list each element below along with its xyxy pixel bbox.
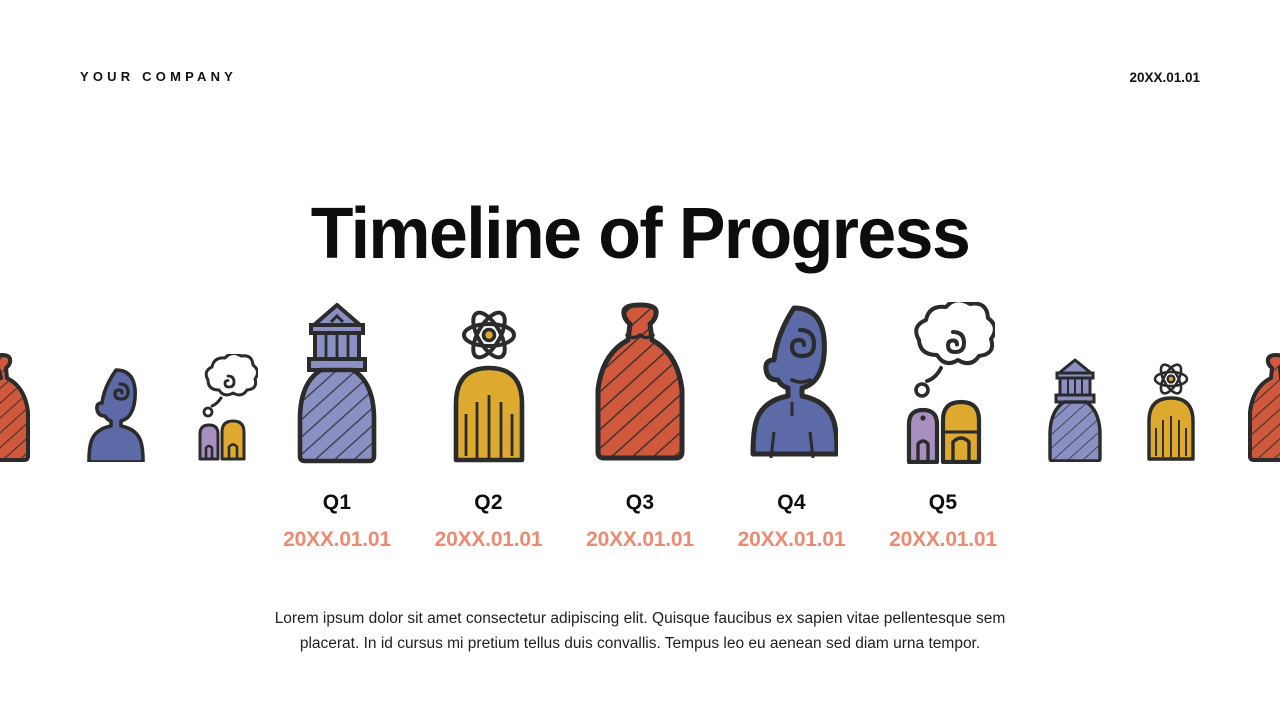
timeline-step-q2-date: 20XX.01.01 — [435, 528, 543, 552]
timeline-step-q4-label: Q4 — [777, 491, 805, 515]
ghost-item-head-left — [86, 366, 146, 462]
timeline-step-q2-label: Q2 — [474, 491, 502, 515]
timeline-step-q4-date: 20XX.01.01 — [738, 528, 846, 552]
brand-label: YOUR COMPANY — [80, 69, 237, 84]
atom-dome-icon — [444, 302, 534, 464]
timeline-step-q3[interactable]: Q3 20XX.01.01 — [565, 286, 715, 552]
ghost-item-atom-right — [1140, 358, 1202, 462]
timeline-step-q2[interactable]: Q2 20XX.01.01 — [414, 286, 564, 552]
timeline-step-q1-label: Q1 — [323, 491, 351, 515]
timeline-step-q5[interactable]: Q5 20XX.01.01 — [868, 286, 1018, 552]
ghost-item-temple-right — [1046, 358, 1104, 462]
spiral-head-icon — [746, 302, 838, 464]
timeline-step-q5-label: Q5 — [929, 491, 957, 515]
atom-dome-icon — [1140, 358, 1202, 462]
header-date: 20XX.01.01 — [1129, 70, 1200, 85]
timeline-step-q5-date: 20XX.01.01 — [889, 528, 997, 552]
body-paragraph: Lorem ipsum dolor sit amet consectetur a… — [260, 606, 1020, 657]
timeline-step-q3-art — [594, 286, 686, 464]
temple-bell-icon — [1046, 358, 1104, 462]
timeline-step-q3-date: 20XX.01.01 — [586, 528, 694, 552]
timeline-step-q3-label: Q3 — [626, 491, 654, 515]
timeline-step-q4[interactable]: Q4 20XX.01.01 — [717, 286, 867, 552]
ghost-item-vase-right — [1244, 352, 1280, 462]
spiral-head-icon — [86, 366, 146, 462]
timeline-step-q4-art — [746, 286, 838, 464]
timeline-step-q1[interactable]: Q1 20XX.01.01 — [262, 286, 412, 552]
thought-bubble-houses-icon — [188, 354, 258, 462]
timeline-step-q5-art — [891, 286, 995, 464]
temple-bell-icon — [295, 302, 379, 464]
vase-icon — [0, 352, 38, 462]
timeline-step-q2-art — [444, 286, 534, 464]
timeline-step-q1-date: 20XX.01.01 — [283, 528, 391, 552]
timeline-steps: Q1 20XX.01.01 Q2 — [262, 262, 1018, 552]
vase-icon — [1244, 352, 1280, 462]
ghost-item-vase-left — [0, 352, 38, 462]
timeline-step-q1-art — [295, 286, 379, 464]
thought-bubble-houses-icon — [891, 302, 995, 464]
ghost-item-bubble-left — [188, 354, 258, 462]
vase-icon — [594, 302, 686, 464]
